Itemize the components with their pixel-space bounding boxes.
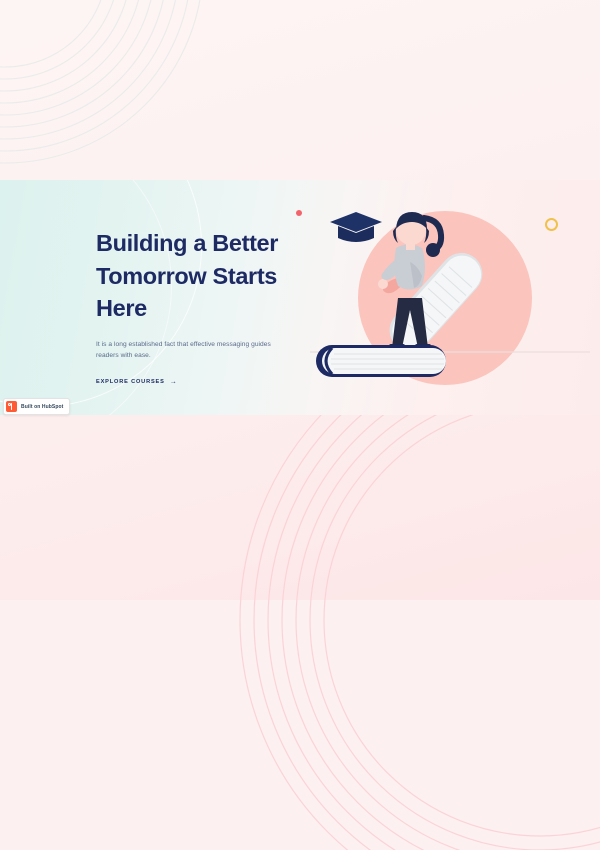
student-books-illustration bbox=[300, 180, 600, 415]
base-book bbox=[316, 345, 446, 377]
badge-label: Built on HubSpot bbox=[21, 404, 63, 410]
arrow-right-icon: → bbox=[170, 378, 178, 385]
explore-courses-button[interactable]: EXPLORE COURSES → bbox=[96, 379, 178, 386]
coral-dot-icon bbox=[296, 210, 302, 216]
built-on-hubspot-badge[interactable]: Built on HubSpot bbox=[3, 398, 70, 415]
hero-headline: Building a Better Tomorrow Starts Here bbox=[96, 227, 306, 325]
hero-subcopy: It is a long established fact that effec… bbox=[96, 339, 278, 362]
yellow-ring-icon bbox=[545, 218, 558, 231]
hero-illustration bbox=[300, 180, 600, 415]
cta-label: EXPLORE COURSES bbox=[96, 379, 165, 385]
graduation-cap-icon bbox=[330, 212, 382, 242]
hubspot-sprocket-icon bbox=[6, 401, 17, 412]
hero-copy-block: Building a Better Tomorrow Starts Here I… bbox=[96, 227, 306, 388]
hero-banner: Building a Better Tomorrow Starts Here I… bbox=[0, 180, 600, 415]
